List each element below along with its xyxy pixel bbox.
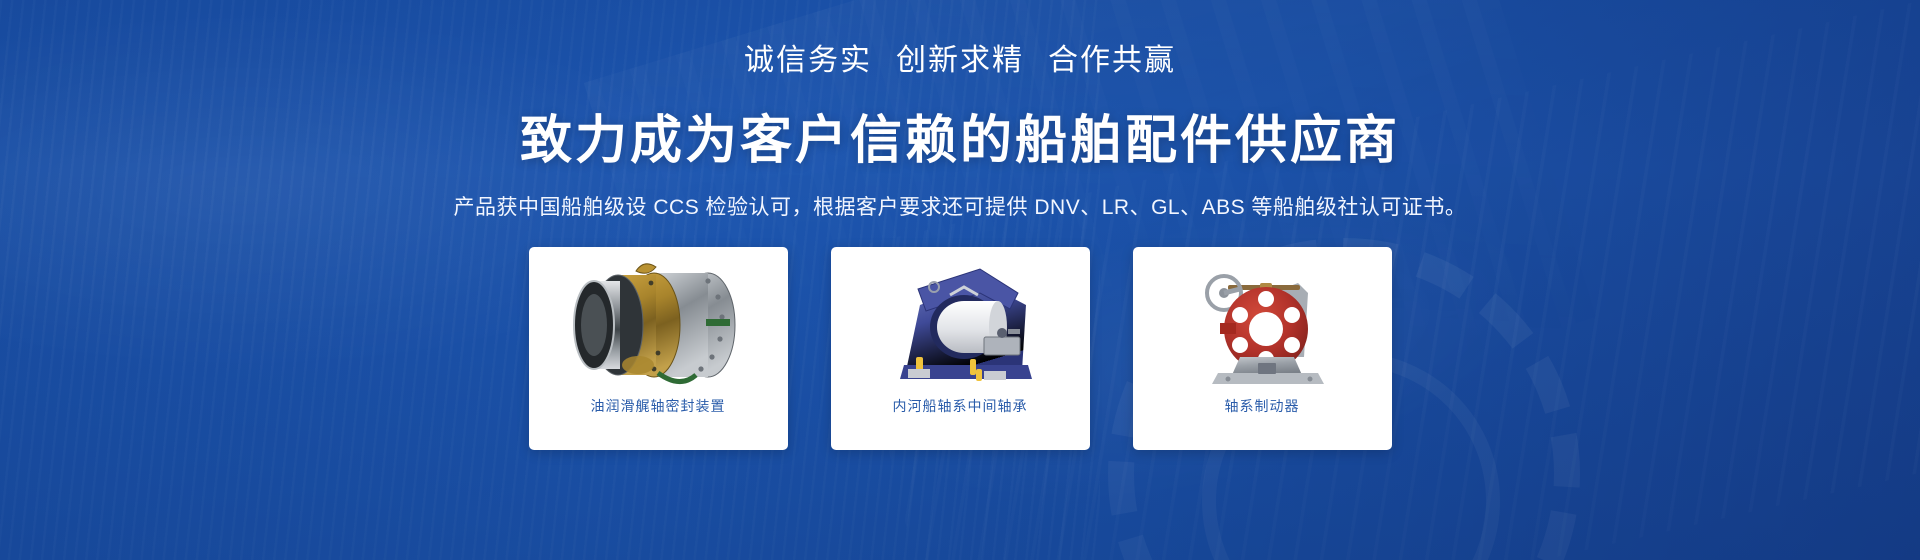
slogan: 诚信务实 创新求精 合作共赢 — [743, 46, 1177, 76]
shaft-brake-photo — [1162, 253, 1362, 393]
card-caption: 轴系制动器 — [1225, 399, 1300, 417]
hero-banner: 诚信务实 创新求精 合作共赢 致力成为客户信赖的船舶配件供应商 产品获中国船舶级… — [0, 0, 1920, 560]
oil-lubricated-stern-shaft-seal-photo — [558, 253, 758, 393]
product-card[interactable]: 轴系制动器 — [1133, 247, 1392, 450]
card-caption: 油润滑艉轴密封装置 — [591, 399, 726, 417]
card-figure — [1133, 247, 1392, 399]
inland-vessel-intermediate-bearing-photo — [860, 253, 1060, 393]
headline: 致力成为客户信赖的船舶配件供应商 — [520, 98, 1400, 173]
product-card-list: 油润滑艉轴密封装置 — [529, 247, 1392, 450]
card-figure — [529, 247, 788, 399]
product-card[interactable]: 油润滑艉轴密封装置 — [529, 247, 788, 450]
subtitle: 产品获中国船舶级设 CCS 检验认可，根据客户要求还可提供 DNV、LR、GL、… — [454, 191, 1467, 221]
card-caption: 内河船轴系中间轴承 — [893, 399, 1028, 417]
card-figure — [831, 247, 1090, 399]
slogan-segment-1: 诚信务实 — [743, 46, 873, 76]
slogan-segment-3: 合作共赢 — [1047, 46, 1177, 76]
banner-content: 诚信务实 创新求精 合作共赢 致力成为客户信赖的船舶配件供应商 产品获中国船舶级… — [0, 0, 1920, 560]
product-card[interactable]: 内河船轴系中间轴承 — [831, 247, 1090, 450]
slogan-segment-2: 创新求精 — [895, 46, 1025, 76]
